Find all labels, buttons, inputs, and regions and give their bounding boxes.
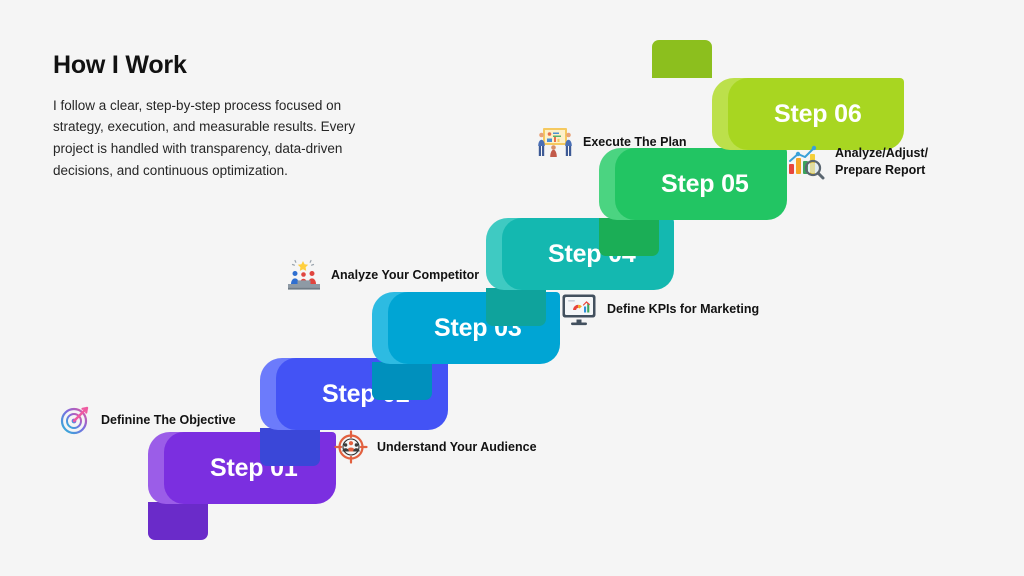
caption-define-kpis-for-marketing: Define KPIs for Marketing [560,292,759,326]
step-fold-tab [260,428,320,466]
caption-understand-your-audience: Understand Your Audience [334,430,537,464]
monitor-dashboard-icon [560,292,598,326]
caption-analyze-your-competitor: Analyze Your Competitor [286,258,479,292]
caption-label: Understand Your Audience [377,439,537,456]
team-whiteboard-icon [536,126,574,158]
step-body: Step 05 [615,148,787,220]
podium-winners-icon [286,258,322,292]
step-fold-tab [486,288,546,326]
step-label: Step 05 [661,170,749,199]
crosshair-people-icon [334,430,368,464]
chart-magnifier-icon [786,144,826,180]
step-fold-tab [372,362,432,400]
caption-label: Analyze Your Competitor [331,267,479,284]
caption-label: Analyze/Adjust/ Prepare Report [835,145,928,179]
step-body: Step 06 [728,78,904,150]
caption-analyze-adjust-prepare-report: Analyze/Adjust/ Prepare Report [786,144,928,180]
caption-label: Define KPIs for Marketing [607,301,759,318]
caption-label: Definine The Objective [101,412,236,429]
target-arrow-icon [56,402,92,438]
step-label: Step 06 [774,100,862,129]
caption-label: Execute The Plan [583,134,687,151]
caption-execute-the-plan: Execute The Plan [536,126,687,158]
step-fold-tab [148,502,208,540]
step-fold-tab [652,40,712,78]
staircase-diagram: Step 01 Step 02 Step 03 Step 04 Step 05 [0,0,1024,576]
step-fold-tab [599,218,659,256]
caption-definine-the-objective: Definine The Objective [56,402,236,438]
